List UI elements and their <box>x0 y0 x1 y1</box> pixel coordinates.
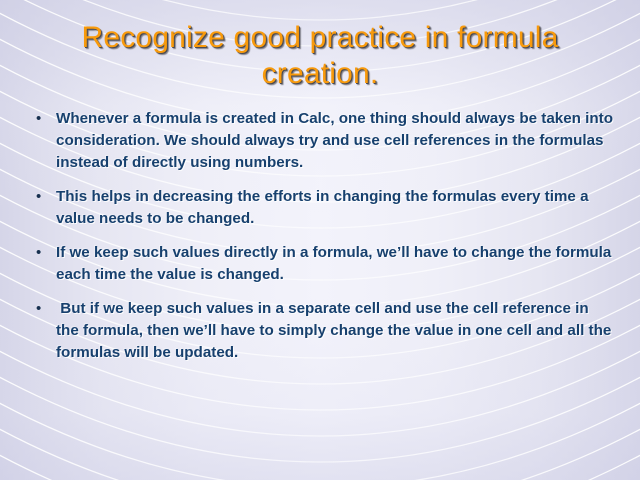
list-item-text: This helps in decreasing the efforts in … <box>56 186 614 230</box>
bullet-point-icon: • <box>36 298 50 320</box>
slide-canvas: Recognize good practice in formula creat… <box>0 0 640 480</box>
bullet-point-icon: • <box>36 186 50 208</box>
list-item: • This helps in decreasing the efforts i… <box>30 186 614 230</box>
bullet-point-icon: • <box>36 108 50 130</box>
slide-title-text: Recognize good practice in formula creat… <box>26 20 614 92</box>
list-item-text: If we keep such values directly in a for… <box>56 242 614 286</box>
slide-body-bullet-list: • Whenever a formula is created in Calc,… <box>30 108 614 364</box>
list-item: • Whenever a formula is created in Calc,… <box>30 108 614 174</box>
list-item: • If we keep such values directly in a f… <box>30 242 614 286</box>
slide-title: Recognize good practice in formula creat… <box>26 20 614 92</box>
list-item-text: Whenever a formula is created in Calc, o… <box>56 108 614 174</box>
bullet-point-icon: • <box>36 242 50 264</box>
list-item: • But if we keep such values in a separa… <box>30 298 614 364</box>
list-item-text: But if we keep such values in a separate… <box>56 298 614 364</box>
